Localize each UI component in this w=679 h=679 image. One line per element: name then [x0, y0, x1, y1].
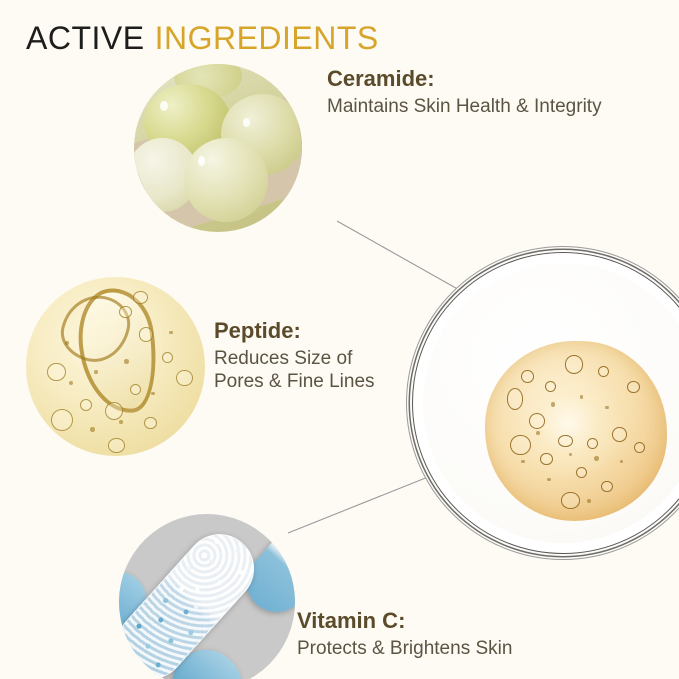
title-word-active: ACTIVE [26, 20, 145, 56]
ingredient-benefit-vitamin-c: Protects & Brightens Skin [297, 637, 512, 660]
ingredient-label-ceramide: Ceramide: Maintains Skin Health & Integr… [327, 66, 602, 118]
swatch-ceramide [134, 64, 302, 232]
ingredient-name-vitamin-c: Vitamin C: [297, 608, 512, 635]
serum-drop [485, 341, 667, 521]
petri-dish-inner [423, 263, 679, 543]
ingredient-name-peptide: Peptide: [214, 318, 375, 345]
hero-petri-dish [412, 252, 679, 554]
title-word-ingredients: INGREDIENTS [155, 20, 379, 56]
ingredient-label-vitamin-c: Vitamin C: Protects & Brightens Skin [297, 608, 512, 660]
swatch-vitamin-c [119, 514, 295, 679]
connector-line-vitaminc [288, 477, 428, 533]
ceramide-sphere [184, 138, 268, 222]
connector-line-ceramide [337, 221, 470, 296]
active-ingredients-infographic: ACTIVEINGREDIENTS [0, 0, 679, 679]
ingredient-label-peptide: Peptide: Reduces Size of Pores & Fine Li… [214, 318, 375, 393]
swatch-peptide [26, 277, 205, 456]
ingredient-name-ceramide: Ceramide: [327, 66, 602, 93]
ingredient-benefit-peptide-line2: Pores & Fine Lines [214, 370, 375, 393]
ingredient-benefit-peptide-line1: Reduces Size of [214, 347, 375, 370]
ingredient-benefit-ceramide: Maintains Skin Health & Integrity [327, 95, 602, 118]
page-title: ACTIVEINGREDIENTS [26, 20, 379, 57]
